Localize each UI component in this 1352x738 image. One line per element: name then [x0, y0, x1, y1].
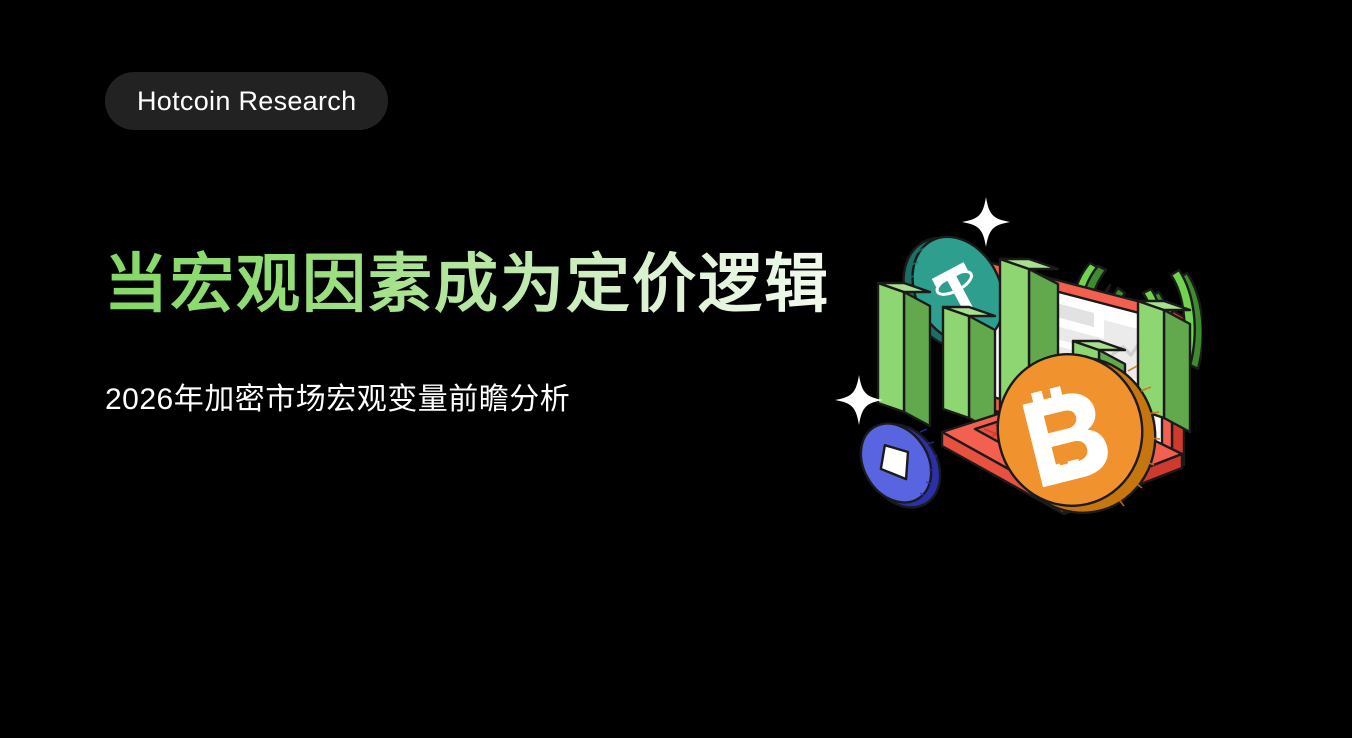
sparkle-icon-top: [962, 197, 1010, 247]
page-title: 当宏观因素成为定价逻辑: [104, 248, 830, 322]
sparkle-icon-left: [835, 375, 883, 425]
ethereum-coin: [847, 410, 956, 521]
bar-1: [878, 283, 930, 426]
bar-2: [943, 307, 995, 432]
brand-badge-label: Hotcoin Research: [137, 88, 356, 115]
brand-badge: Hotcoin Research: [105, 72, 388, 130]
page-subtitle: 2026年加密市场宏观变量前瞻分析: [105, 374, 570, 418]
hero-illustration: .ol { stroke:#1A1A1A; stroke-width:2.4; …: [832, 170, 1202, 530]
